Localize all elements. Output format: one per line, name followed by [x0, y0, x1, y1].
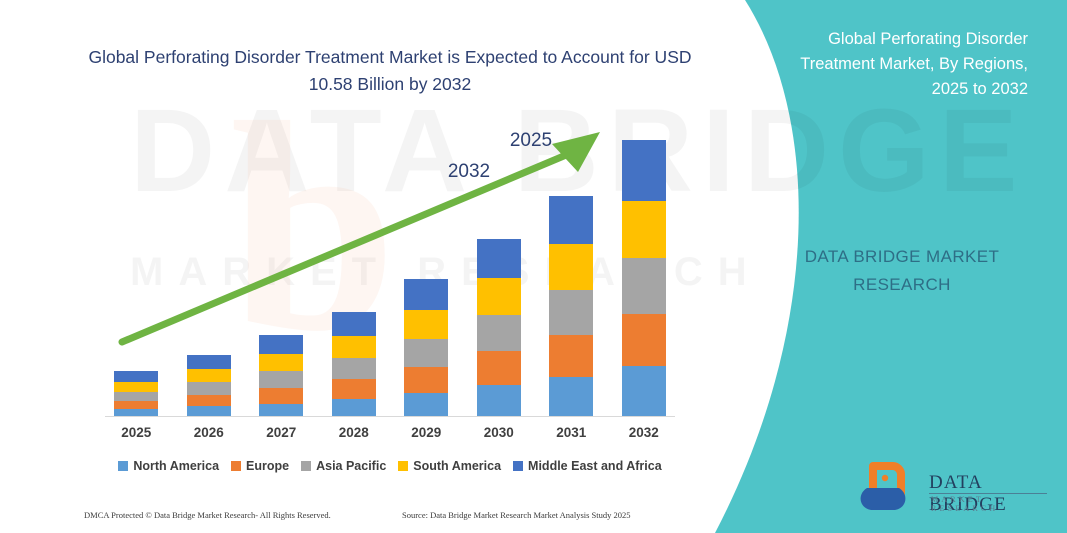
brand-logo: DATA BRIDGE MARKET RESEARCH: [855, 460, 1055, 520]
bar-2032: [622, 140, 666, 416]
bar-segment-asia-pacific: [622, 258, 666, 313]
panel-brand-text: DATA BRIDGE MARKET RESEARCH: [772, 243, 1032, 299]
hexagon-outlines-icon: [0, 0, 400, 533]
x-axis-label-2032: 2032: [608, 425, 680, 440]
panel-title: Global Perforating Disorder Treatment Ma…: [778, 27, 1028, 102]
bar-segment-north-america: [622, 366, 666, 416]
hexagon-label-2032: 2032: [433, 161, 505, 183]
x-axis-label-2030: 2030: [463, 425, 535, 440]
bar-segment-north-america: [549, 377, 593, 416]
x-axis-label-2031: 2031: [535, 425, 607, 440]
legend-label: South America: [413, 459, 501, 473]
bar-segment-europe: [404, 367, 448, 393]
logo-divider: [929, 493, 1047, 494]
legend-item-south-america[interactable]: South America: [398, 459, 501, 473]
legend-item-middle-east-and-africa[interactable]: Middle East and Africa: [513, 459, 662, 473]
infographic-canvas: b DATA BRIDGE MARKET RESEARCH Global Per…: [0, 0, 1067, 533]
bar-segment-north-america: [404, 393, 448, 416]
logo-tagline: MARKET RESEARCH: [931, 495, 1055, 513]
legend-label: Middle East and Africa: [528, 459, 662, 473]
bar-segment-europe: [622, 314, 666, 367]
x-axis-label-2029: 2029: [390, 425, 462, 440]
hexagon-label-2025: 2025: [495, 130, 567, 152]
hexagon-group: 2032 2025: [0, 0, 400, 533]
footer-source: Source: Data Bridge Market Research Mark…: [402, 510, 631, 520]
bar-segment-south-america: [622, 201, 666, 259]
bar-segment-north-america: [477, 385, 521, 416]
bar-segment-middle-east-and-africa: [622, 140, 666, 201]
legend-swatch-icon: [513, 461, 523, 471]
